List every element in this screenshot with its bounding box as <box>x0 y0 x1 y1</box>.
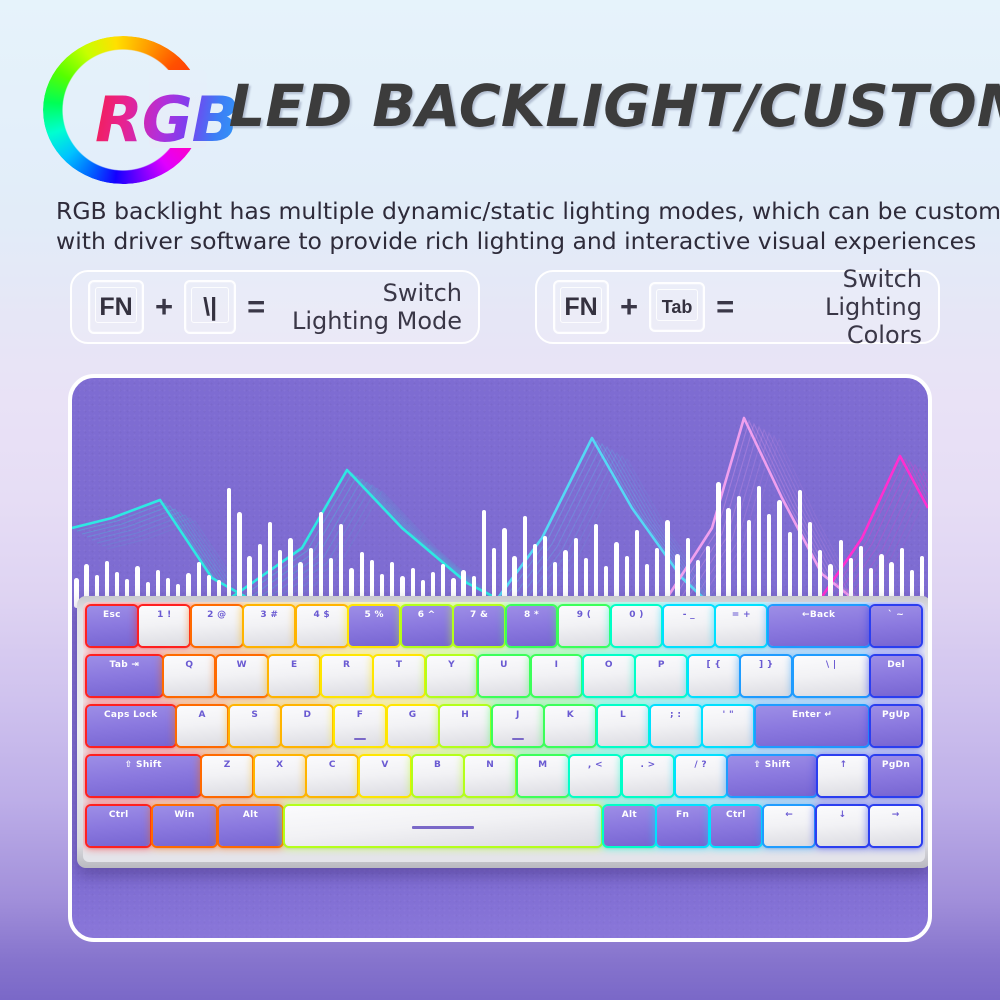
key-d[interactable]: D <box>282 706 332 746</box>
visualizer-bar <box>319 512 323 608</box>
visualizer-bar <box>798 490 802 608</box>
key-[interactable]: \ | <box>794 656 869 696</box>
key-e[interactable]: E <box>269 656 319 696</box>
visualizer-bar <box>747 520 751 608</box>
key-label: U <box>500 660 508 670</box>
key-z[interactable]: Z <box>202 756 252 796</box>
key-q[interactable]: Q <box>164 656 214 696</box>
rgb-color-wheel-icon: RGB <box>43 36 203 184</box>
key-v[interactable]: V <box>360 756 410 796</box>
key-alt[interactable]: Alt <box>604 806 655 846</box>
key-label: Tab ⇥ <box>110 660 140 670</box>
key-label: Del <box>887 660 905 670</box>
key-tab[interactable]: Tab ⇥ <box>87 656 162 696</box>
key-[interactable]: . > <box>623 756 673 796</box>
description-line-2: with driver software to provide rich lig… <box>56 226 974 256</box>
key-label: 6 ^ <box>418 610 436 620</box>
key-s[interactable]: S <box>230 706 280 746</box>
key-label: - _ <box>683 610 695 620</box>
key-a[interactable]: A <box>177 706 227 746</box>
key-6[interactable]: 6 ^ <box>402 606 452 646</box>
key-label: 2 @ <box>207 610 226 620</box>
key-[interactable]: ↓ <box>817 806 868 846</box>
key-label: . > <box>641 760 656 770</box>
key-label: PgUp <box>882 710 910 720</box>
key-[interactable]: ; : <box>651 706 701 746</box>
key-label: H <box>461 710 469 720</box>
key-label: E <box>291 660 297 670</box>
rgb-logo-text: RGB <box>95 83 238 156</box>
key-2[interactable]: 2 @ <box>192 606 242 646</box>
key-4[interactable]: 4 $ <box>297 606 347 646</box>
key-enter[interactable]: Enter ↵ <box>756 706 869 746</box>
key-k[interactable]: K <box>545 706 595 746</box>
visualizer-bar <box>737 496 741 608</box>
key-label: ; : <box>670 710 681 720</box>
key-[interactable]: / ? <box>676 756 726 796</box>
key-label: Caps Lock <box>104 710 158 720</box>
key-label: M <box>538 760 547 770</box>
key-label: Z <box>224 760 231 770</box>
key-label: X <box>276 760 283 770</box>
key-[interactable]: ` ~ <box>871 606 921 646</box>
visualizer-bar <box>523 516 527 608</box>
key-[interactable]: , < <box>570 756 620 796</box>
key-ctrl[interactable]: Ctrl <box>711 806 762 846</box>
key-label: , < <box>588 760 603 770</box>
visualizer-bar <box>767 514 771 608</box>
key-label: N <box>486 760 494 770</box>
audio-visualizer <box>72 378 928 608</box>
key-b[interactable]: B <box>413 756 463 796</box>
keycap-tab-label: Tab <box>662 297 693 318</box>
key-win[interactable]: Win <box>153 806 216 846</box>
visualizer-bars <box>72 408 928 608</box>
key-label: A <box>198 710 205 720</box>
key-label: D <box>303 710 311 720</box>
homing-bar <box>354 738 366 740</box>
key-label: / ? <box>694 760 707 770</box>
key-y[interactable]: Y <box>427 656 477 696</box>
keycap-tab: Tab <box>649 282 705 332</box>
key-label: Alt <box>243 810 258 820</box>
key-label: ' " <box>722 710 733 720</box>
visualizer-bar <box>757 486 761 608</box>
keycap-fn-2-label: FN <box>564 293 597 322</box>
key-del[interactable]: Del <box>871 656 921 696</box>
key-label: ↓ <box>838 810 846 820</box>
key-t[interactable]: T <box>374 656 424 696</box>
key-label: Ctrl <box>109 810 129 820</box>
visualizer-bar <box>726 508 730 608</box>
key-h[interactable]: H <box>440 706 490 746</box>
key-label: 0 ) <box>629 610 643 620</box>
keycap-fn-1-label: FN <box>99 293 132 322</box>
key-label: Y <box>448 660 455 670</box>
key-g[interactable]: G <box>388 706 438 746</box>
shortcut-result-2: Switch Lighting Colors <box>753 265 922 349</box>
keycap-backslash: \| <box>184 280 236 334</box>
key-label: Enter ↵ <box>792 710 832 720</box>
plus-operator-1: + <box>155 289 173 325</box>
header: RGB LED BACKLIGHT/CUSTOM <box>0 14 1000 174</box>
key-r[interactable]: R <box>322 656 372 696</box>
key-label: Alt <box>622 810 637 820</box>
key-8[interactable]: 8 * <box>507 606 557 646</box>
key-m[interactable]: M <box>518 756 568 796</box>
product-showcase-panel: Esc1 !2 @3 #4 $5 %6 ^7 &8 *9 (0 )- _= +←… <box>68 374 932 942</box>
panel-bottom-glow <box>72 878 928 938</box>
key-w[interactable]: W <box>217 656 267 696</box>
visualizer-bar <box>482 510 486 608</box>
key-9[interactable]: 9 ( <box>559 606 609 646</box>
key-label: Ctrl <box>726 810 746 820</box>
keyboard-plate: Esc1 !2 @3 #4 $5 %6 ^7 &8 *9 (0 )- _= +←… <box>83 602 925 862</box>
key-[interactable]: = + <box>716 606 766 646</box>
keycap-fn-1: FN <box>88 280 144 334</box>
shortcut-lighting-colors: FN + Tab = Switch Lighting Colors <box>535 270 940 344</box>
visualizer-bar <box>665 520 669 608</box>
key-label: 1 ! <box>157 610 171 620</box>
key-caps-lock[interactable]: Caps Lock <box>87 706 175 746</box>
key-label: I <box>555 660 559 670</box>
key-x[interactable]: X <box>255 756 305 796</box>
key-label: O <box>605 660 613 670</box>
key-label: V <box>381 760 388 770</box>
keyboard: Esc1 !2 @3 #4 $5 %6 ^7 &8 *9 (0 )- _= +←… <box>77 596 931 871</box>
key-7[interactable]: 7 & <box>454 606 504 646</box>
key-[interactable]: [ { <box>689 656 739 696</box>
key-label: \ | <box>826 660 837 670</box>
key-label: = + <box>732 610 751 620</box>
key-fn[interactable]: Fn <box>657 806 708 846</box>
key-label: ↑ <box>839 760 847 770</box>
key-label: [ { <box>707 660 722 670</box>
key-esc[interactable]: Esc <box>87 606 137 646</box>
key-label: C <box>329 760 336 770</box>
key-shift[interactable]: ⇧ Shift <box>728 756 816 796</box>
key-label: ] } <box>759 660 774 670</box>
key-label: ⇧ Shift <box>754 760 791 770</box>
key-label: 7 & <box>470 610 488 620</box>
key-label: → <box>892 810 900 820</box>
key-back[interactable]: ←Back <box>769 606 869 646</box>
key-n[interactable]: N <box>465 756 515 796</box>
key-u[interactable]: U <box>479 656 529 696</box>
key-label: P <box>658 660 665 670</box>
key-label: 8 * <box>524 610 539 620</box>
key-5[interactable]: 5 % <box>349 606 399 646</box>
key-label: 3 # <box>260 610 278 620</box>
homing-bar <box>412 826 474 829</box>
keyboard-case: Esc1 !2 @3 #4 $5 %6 ^7 &8 *9 (0 )- _= +←… <box>77 596 931 868</box>
key-pgup[interactable]: PgUp <box>871 706 921 746</box>
visualizer-bar <box>227 488 231 608</box>
homing-bar <box>512 738 524 740</box>
key-label: R <box>343 660 350 670</box>
key-label: F <box>357 710 363 720</box>
key-[interactable]: → <box>870 806 921 846</box>
plus-operator-2: + <box>620 289 638 325</box>
key-label: PgDn <box>882 760 910 770</box>
key-label: W <box>237 660 247 670</box>
key-[interactable]: ← <box>764 806 815 846</box>
key-label: ← <box>785 810 793 820</box>
key-shift[interactable]: ⇧ Shift <box>87 756 200 796</box>
key-label: S <box>251 710 258 720</box>
key-label: ⇧ Shift <box>125 760 162 770</box>
key-i[interactable]: I <box>532 656 582 696</box>
shortcut-result-1: Switch Lighting Mode <box>284 279 462 335</box>
key-label: ←Back <box>802 610 835 620</box>
key-l[interactable]: L <box>598 706 648 746</box>
description-line-1: RGB backlight has multiple dynamic/stati… <box>56 196 974 226</box>
key-[interactable]: ] } <box>741 656 791 696</box>
key-p[interactable]: P <box>636 656 686 696</box>
key-label: B <box>434 760 441 770</box>
key-label: Fn <box>676 810 689 820</box>
key-space[interactable] <box>285 806 602 846</box>
keycap-backslash-label: \| <box>203 293 217 322</box>
key-label: Win <box>174 810 194 820</box>
key-label: J <box>516 710 520 720</box>
visualizer-bar <box>716 482 720 608</box>
key-label: T <box>396 660 402 670</box>
visualizer-bar <box>777 500 781 608</box>
key-label: Esc <box>103 610 121 620</box>
page-title: LED BACKLIGHT/CUSTOM <box>229 72 981 140</box>
equals-operator-2: = <box>716 289 734 325</box>
key-[interactable]: ↑ <box>818 756 868 796</box>
equals-operator-1: = <box>247 289 265 325</box>
key-3[interactable]: 3 # <box>244 606 294 646</box>
visualizer-bar <box>237 512 241 608</box>
key-label: G <box>409 710 417 720</box>
key-0[interactable]: 0 ) <box>612 606 662 646</box>
key-label: K <box>567 710 574 720</box>
shortcut-lighting-mode: FN + \| = Switch Lighting Mode <box>70 270 480 344</box>
key-1[interactable]: 1 ! <box>139 606 189 646</box>
key-label: 9 ( <box>577 610 591 620</box>
key-ctrl[interactable]: Ctrl <box>87 806 150 846</box>
key-label: 5 % <box>365 610 384 620</box>
key-c[interactable]: C <box>307 756 357 796</box>
key-label: ` ~ <box>888 610 904 620</box>
description-paragraph: RGB backlight has multiple dynamic/stati… <box>56 196 974 256</box>
key-[interactable]: - _ <box>664 606 714 646</box>
keycap-fn-2: FN <box>553 280 609 334</box>
key-[interactable]: ' " <box>703 706 753 746</box>
key-pgdn[interactable]: PgDn <box>871 756 921 796</box>
key-f[interactable]: F <box>335 706 385 746</box>
key-label: Q <box>185 660 193 670</box>
key-j[interactable]: J <box>493 706 543 746</box>
key-label: 4 $ <box>313 610 330 620</box>
key-o[interactable]: O <box>584 656 634 696</box>
key-alt[interactable]: Alt <box>219 806 282 846</box>
key-label: L <box>620 710 626 720</box>
